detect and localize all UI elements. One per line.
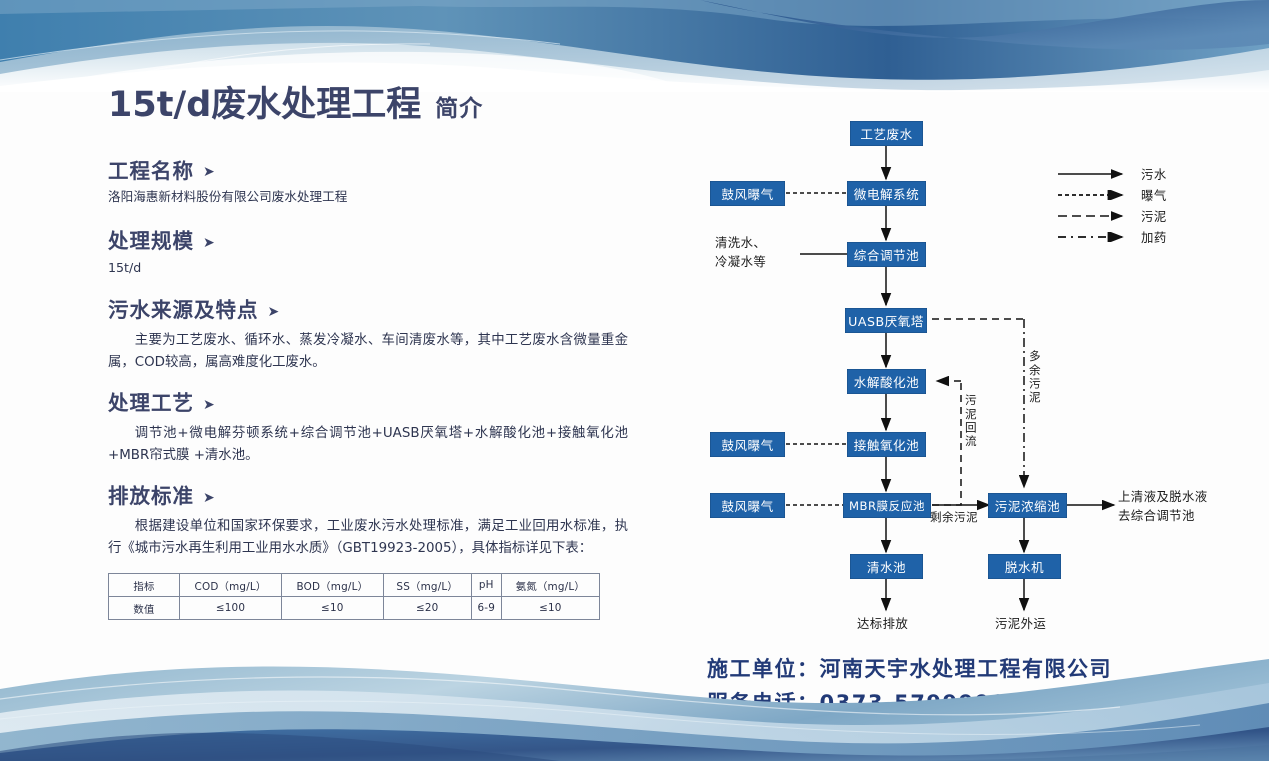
- table-row: 数值 ≤100 ≤10 ≤20 6-9 ≤10: [109, 597, 600, 620]
- flow-label-text: 冷凝水等: [715, 254, 766, 269]
- footer-phone-secondary: 17719950055: [1023, 691, 1200, 715]
- flow-label-text: 达标排放: [857, 616, 908, 631]
- section-body: 调节池+微电解芬顿系统+综合调节池+UASB厌氧塔+水解酸化池+接触氧化池+MB…: [108, 423, 628, 466]
- arrow-right-icon: ➤: [203, 398, 216, 412]
- flow-label-text: 多余污泥: [1028, 350, 1042, 404]
- table-cell: ≤100: [180, 597, 282, 620]
- flow-label-sludge-transport: 污泥外运: [995, 616, 1046, 632]
- table-cell: COD（mg/L）: [180, 574, 282, 597]
- table-cell: SS（mg/L）: [383, 574, 471, 597]
- section-heading-label: 处理工艺: [108, 391, 194, 416]
- flow-node-label: 鼓风曝气: [721, 184, 773, 203]
- flow-node-blower-aeration-1: 鼓风曝气: [710, 181, 785, 206]
- section-wastewater-source: 污水来源及特点 ➤ 主要为工艺废水、循环水、蒸发冷凝水、车间清废水等，其中工艺废…: [108, 298, 628, 373]
- flow-node-label: 鼓风曝气: [721, 496, 773, 515]
- section-heading: 工程名称 ➤: [108, 159, 628, 184]
- flow-label-discharge: 达标排放: [857, 616, 908, 632]
- page-title-main: 15t/d废水处理工程: [108, 85, 421, 125]
- flow-node-comprehensive-tank: 综合调节池: [847, 242, 926, 267]
- section-body: 主要为工艺废水、循环水、蒸发冷凝水、车间清废水等，其中工艺废水含微量重金属，CO…: [108, 330, 628, 373]
- legend-line-dashed-icon: [1058, 211, 1132, 221]
- flow-node-label: 综合调节池: [854, 245, 919, 264]
- table-row: 指标 COD（mg/L） BOD（mg/L） SS（mg/L） pH 氨氮（mg…: [109, 574, 600, 597]
- flow-node-label: MBR膜反应池: [849, 498, 925, 514]
- page-title: 15t/d废水处理工程简介: [108, 86, 628, 125]
- left-content-column: 15t/d废水处理工程简介 工程名称 ➤ 洛阳海惠新材料股份有限公司废水处理工程…: [108, 86, 628, 620]
- top-wave-decoration: [0, 0, 1269, 92]
- flow-label-supernatant-line2: 去综合调节池: [1118, 508, 1195, 524]
- flow-label-supernatant-line1: 上清液及脱水液: [1118, 489, 1208, 505]
- section-treatment-scale: 处理规模 ➤ 15t/d: [108, 229, 628, 278]
- arrow-right-icon: ➤: [203, 491, 216, 505]
- poster-root: 15t/d废水处理工程简介 工程名称 ➤ 洛阳海惠新材料股份有限公司废水处理工程…: [0, 0, 1269, 761]
- table-cell: ≤20: [383, 597, 471, 620]
- arrow-right-icon: ➤: [268, 305, 281, 319]
- section-discharge-standard: 排放标准 ➤ 根据建设单位和国家环保要求，工业废水污水处理标准，满足工业回用水标…: [108, 484, 628, 620]
- flow-label-excess-sludge: 多余污泥: [1028, 350, 1041, 404]
- table-cell: ≤10: [282, 597, 384, 620]
- flow-label-residual-sludge: 剩余污泥: [930, 510, 978, 525]
- flow-node-hydrolysis-acidification: 水解酸化池: [847, 369, 926, 394]
- legend-line-dashdot-icon: [1058, 232, 1132, 242]
- flow-node-dewatering-machine: 脱水机: [988, 554, 1061, 579]
- footer-company-line: 施工单位：河南天宇水处理工程有限公司: [707, 652, 1200, 686]
- section-heading: 排放标准 ➤: [108, 484, 628, 509]
- footer-phone-primary: 0373-5799999: [820, 691, 1007, 715]
- flow-node-label: 水解酸化池: [854, 372, 919, 391]
- table-cell: pH: [471, 574, 501, 597]
- section-heading-label: 工程名称: [108, 159, 194, 184]
- section-treatment-process: 处理工艺 ➤ 调节池+微电解芬顿系统+综合调节池+UASB厌氧塔+水解酸化池+接…: [108, 391, 628, 466]
- discharge-standard-table: 指标 COD（mg/L） BOD（mg/L） SS（mg/L） pH 氨氮（mg…: [108, 573, 600, 620]
- section-heading-label: 排放标准: [108, 484, 194, 509]
- flow-node-label: 工艺废水: [860, 124, 912, 143]
- flow-label-wash-water-line1: 清洗水、: [715, 235, 766, 251]
- footer-contact: 施工单位：河南天宇水处理工程有限公司 服务电话：0373-57999991771…: [707, 652, 1200, 720]
- flow-node-label: 鼓风曝气: [721, 435, 773, 454]
- flow-label-wash-water-line2: 冷凝水等: [715, 254, 766, 270]
- table-cell: 氨氮（mg/L）: [501, 574, 599, 597]
- legend-item: 污水: [1058, 163, 1248, 184]
- flow-node-process-wastewater: 工艺废水: [850, 121, 923, 146]
- section-heading-label: 处理规模: [108, 229, 194, 254]
- legend-line-solid-icon: [1058, 169, 1132, 179]
- section-heading: 处理工艺 ➤: [108, 391, 628, 416]
- table-cell: ≤10: [501, 597, 599, 620]
- flow-node-contact-oxidation: 接触氧化池: [847, 432, 926, 457]
- arrow-right-icon: ➤: [203, 236, 216, 250]
- legend-item: 加药: [1058, 226, 1248, 247]
- page-title-sub: 简介: [435, 96, 483, 122]
- section-heading-label: 污水来源及特点: [108, 298, 259, 323]
- footer-phone-line: 服务电话：0373-579999917719950055: [707, 686, 1200, 720]
- flow-node-uasb-tower: UASB厌氧塔: [845, 308, 927, 333]
- footer-phone-label: 服务电话：: [707, 691, 820, 715]
- flow-node-label: 清水池: [867, 557, 906, 576]
- flow-label-text: 上清液及脱水液: [1118, 489, 1208, 504]
- legend-label: 加药: [1141, 228, 1167, 246]
- section-project-name: 工程名称 ➤ 洛阳海惠新材料股份有限公司废水处理工程: [108, 159, 628, 208]
- section-body: 洛阳海惠新材料股份有限公司废水处理工程: [108, 187, 628, 207]
- legend-label: 污泥: [1141, 207, 1167, 225]
- legend-label: 曝气: [1141, 186, 1167, 204]
- flow-node-label: UASB厌氧塔: [848, 311, 924, 330]
- flow-label-text: 去综合调节池: [1118, 508, 1195, 523]
- flow-node-blower-aeration-3: 鼓风曝气: [710, 493, 785, 518]
- flow-node-mbr-reactor: MBR膜反应池: [843, 493, 931, 518]
- footer-company-name: 河南天宇水处理工程有限公司: [820, 657, 1113, 681]
- flow-legend: 污水 曝气 污泥 加药: [1058, 163, 1248, 247]
- footer-company-label: 施工单位：: [707, 657, 820, 681]
- section-body: 15t/d: [108, 258, 628, 278]
- flow-node-label: 脱水机: [1005, 557, 1044, 576]
- flow-node-micro-electrolysis: 微电解系统: [847, 181, 926, 206]
- table-cell: 数值: [109, 597, 180, 620]
- legend-label: 污水: [1141, 165, 1167, 183]
- flow-node-label: 微电解系统: [854, 184, 919, 203]
- flow-node-label: 污泥浓缩池: [995, 496, 1060, 515]
- flow-label-text: 剩余污泥: [930, 510, 978, 524]
- table-cell: 指标: [109, 574, 180, 597]
- section-heading: 处理规模 ➤: [108, 229, 628, 254]
- flow-label-text: 清洗水、: [715, 235, 766, 250]
- section-body: 根据建设单位和国家环保要求，工业废水污水处理标准，满足工业回用水标准，执行《城市…: [108, 516, 628, 559]
- flow-node-label: 接触氧化池: [854, 435, 919, 454]
- section-heading: 污水来源及特点 ➤: [108, 298, 628, 323]
- flow-node-clear-water-tank: 清水池: [850, 554, 923, 579]
- flow-node-blower-aeration-2: 鼓风曝气: [710, 432, 785, 457]
- legend-item: 曝气: [1058, 184, 1248, 205]
- arrow-right-icon: ➤: [203, 165, 216, 179]
- flow-label-sludge-return: 污泥回流: [964, 394, 977, 448]
- flow-label-text: 污泥外运: [995, 616, 1046, 631]
- legend-item: 污泥: [1058, 205, 1248, 226]
- flow-node-sludge-thickener: 污泥浓缩池: [988, 493, 1067, 518]
- flow-label-text: 污泥回流: [964, 394, 978, 448]
- table-cell: 6-9: [471, 597, 501, 620]
- table-cell: BOD（mg/L）: [282, 574, 384, 597]
- legend-line-dotted-icon: [1058, 190, 1132, 200]
